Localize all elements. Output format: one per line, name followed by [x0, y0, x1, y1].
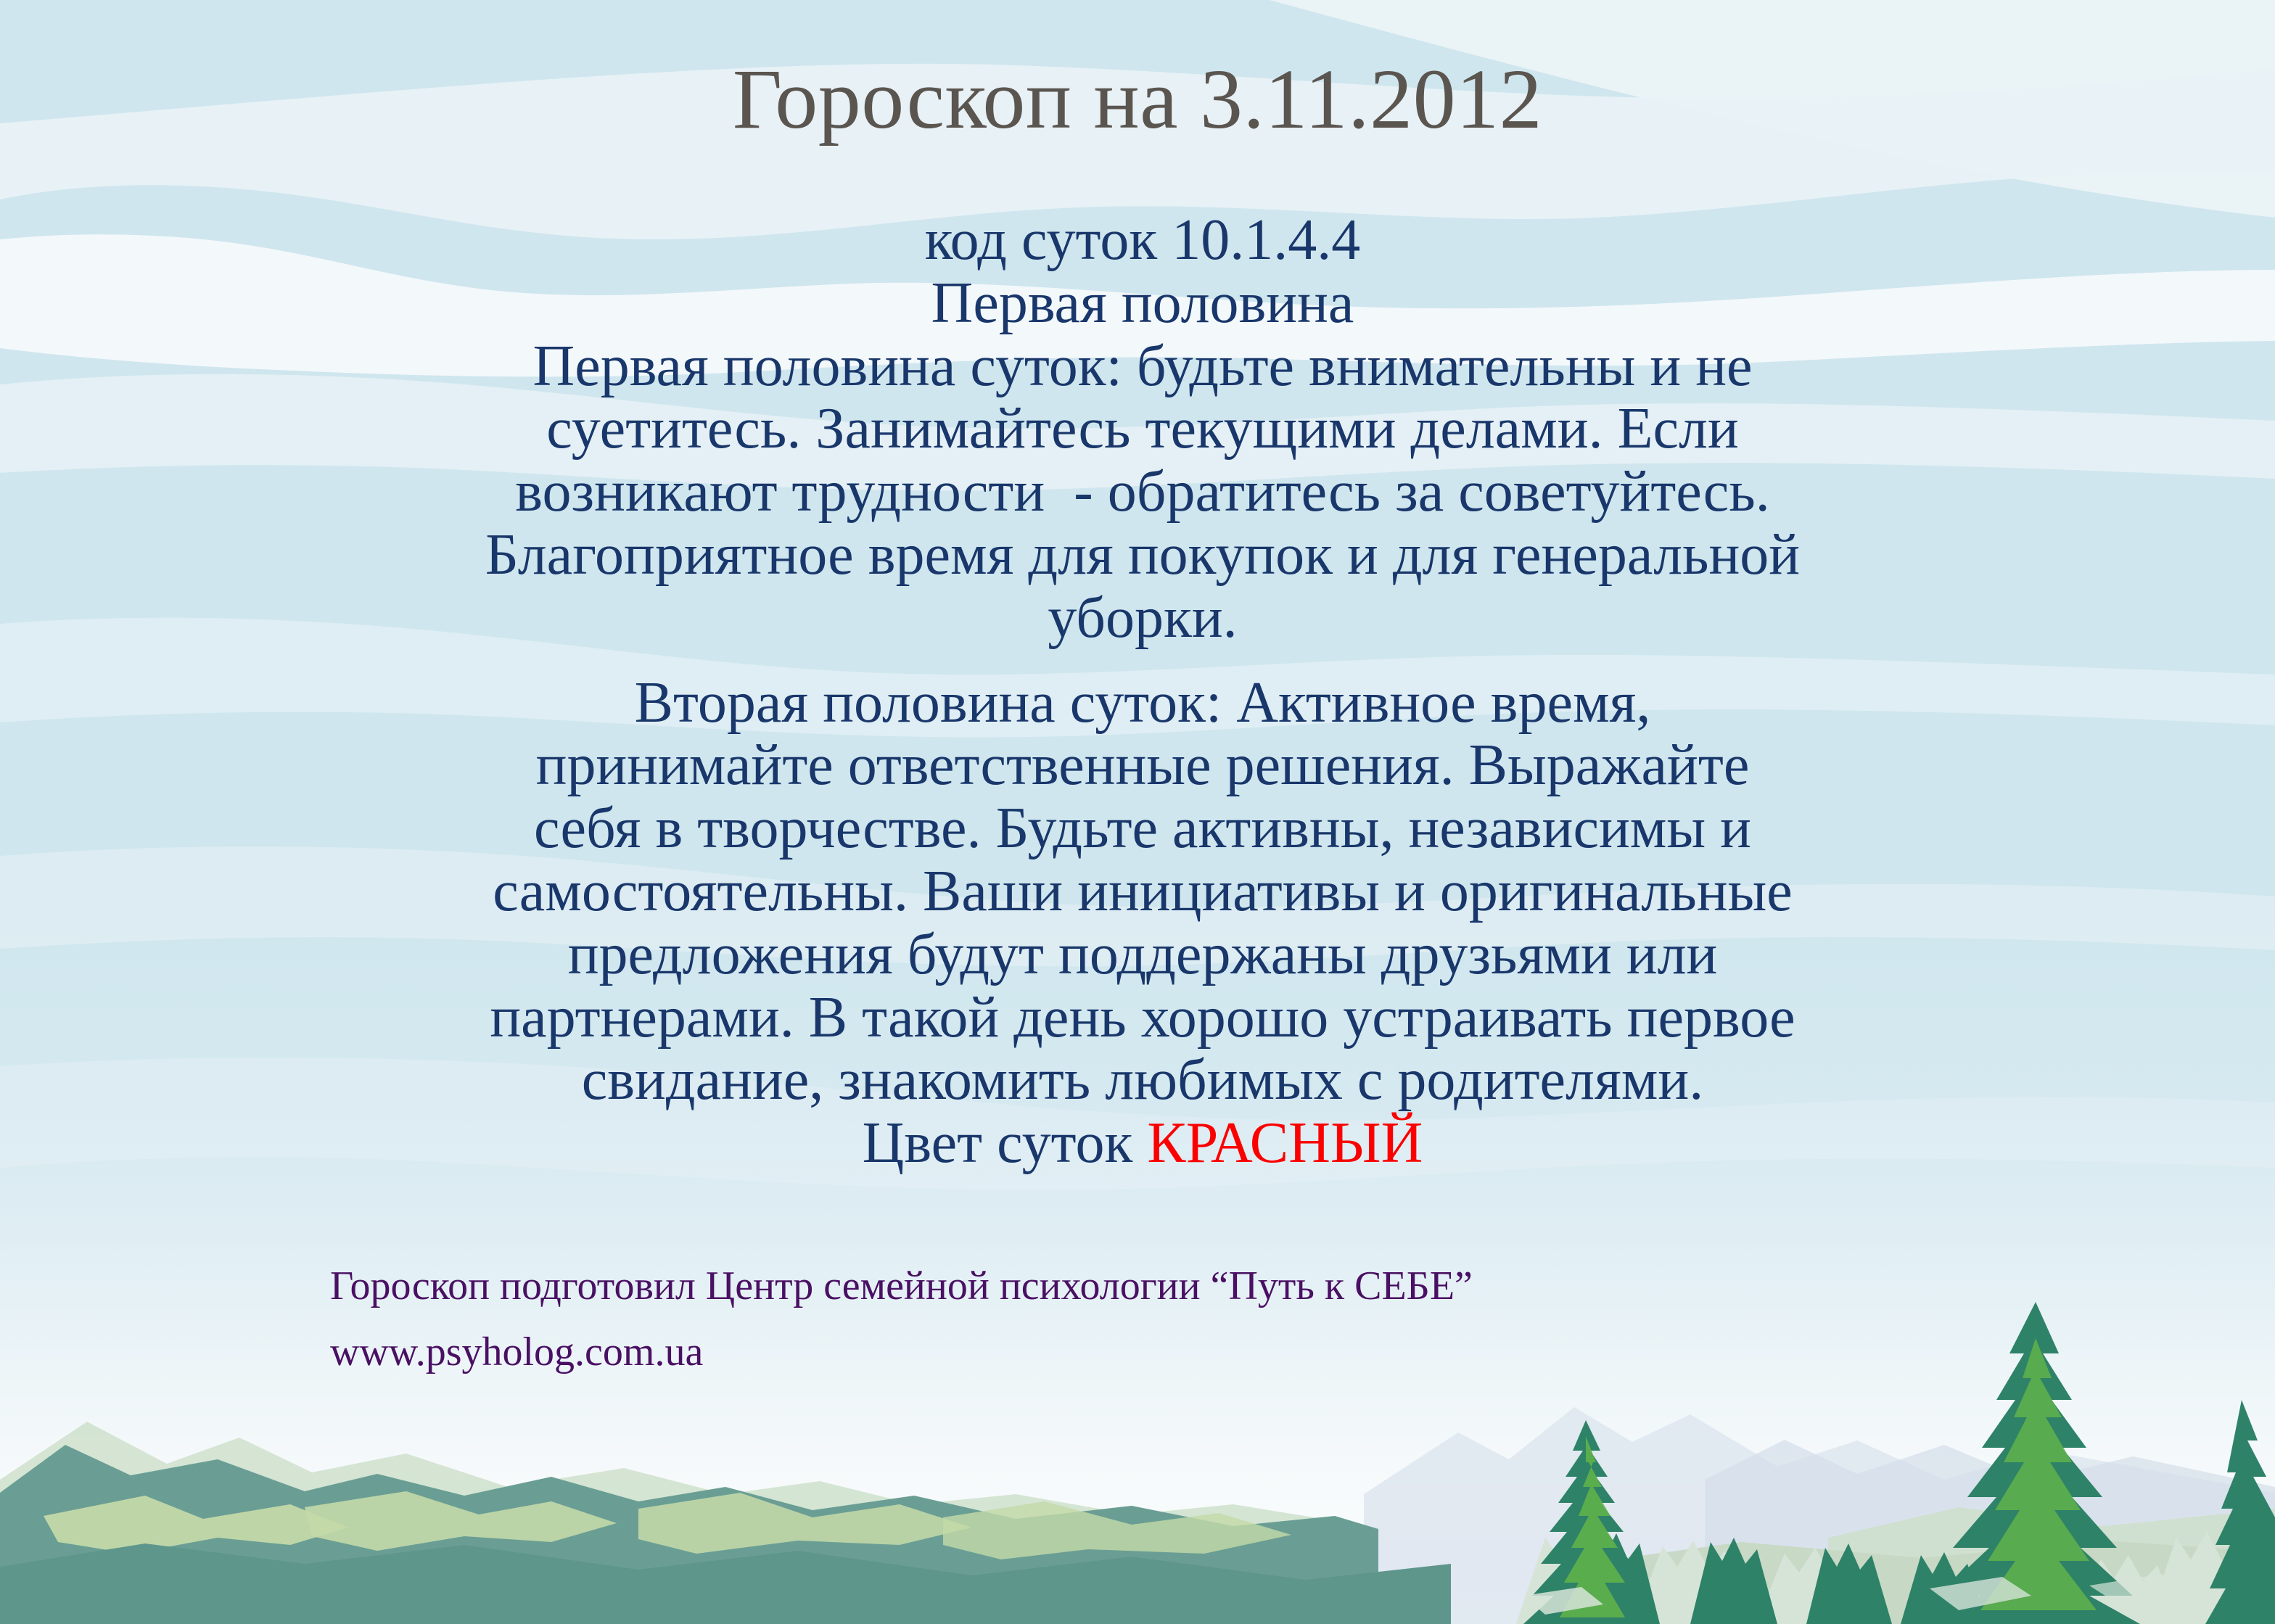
- page-title: Гороскоп на 3.11.2012: [0, 57, 2275, 142]
- paragraph2-line-3: себя в творчестве. Будьте активны, незав…: [312, 797, 1973, 860]
- paragraph1-line-2: суетитесь. Занимайтесь текущими делами. …: [312, 397, 1973, 461]
- paragraph2-line-1: Вторая половина суток: Активное время,: [312, 672, 1973, 735]
- day-color-value: КРАСНЫЙ: [1147, 1111, 1423, 1175]
- slide-canvas: Гороскоп на 3.11.2012 код суток 10.1.4.4…: [0, 0, 2275, 1624]
- day-code-line: код суток 10.1.4.4: [312, 209, 1973, 272]
- slide-content: Гороскоп на 3.11.2012 код суток 10.1.4.4…: [0, 0, 2275, 1624]
- paragraph1-line-5: уборки.: [312, 587, 1973, 650]
- paragraph1-line-3: возникают трудности - обратитесь за сове…: [312, 461, 1973, 524]
- horoscope-body: код суток 10.1.4.4 Первая половина Перва…: [312, 209, 1973, 1175]
- paragraph2-line-5: предложения будут поддержаны друзьями ил…: [312, 923, 1973, 986]
- paragraph2-line-6: партнерами. В такой день хорошо устраива…: [312, 986, 1973, 1050]
- paragraph2-line-4: самостоятельны. Ваши инициативы и оригин…: [312, 860, 1973, 923]
- paragraph1-line-1: Первая половина суток: будьте внимательн…: [312, 335, 1973, 398]
- first-half-subtitle: Первая половина: [312, 272, 1973, 335]
- footer-credit: Гороскоп подготовил Центр семейной психо…: [330, 1253, 1926, 1319]
- paragraph2-line-2: принимайте ответственные решения. Выража…: [312, 734, 1973, 797]
- paragraph-spacer: [312, 650, 1973, 672]
- footer-credit-block: Гороскоп подготовил Центр семейной психо…: [330, 1253, 1926, 1385]
- paragraph1-line-4: Благоприятное время для покупок и для ге…: [312, 524, 1973, 587]
- paragraph2-line-7: свидание, знакомить любимых с родителями…: [312, 1049, 1973, 1112]
- day-color-label: Цвет суток: [863, 1111, 1148, 1175]
- footer-website[interactable]: www.psyholog.com.ua: [330, 1319, 1926, 1385]
- day-color-line: Цвет суток КРАСНЫЙ: [312, 1112, 1973, 1175]
